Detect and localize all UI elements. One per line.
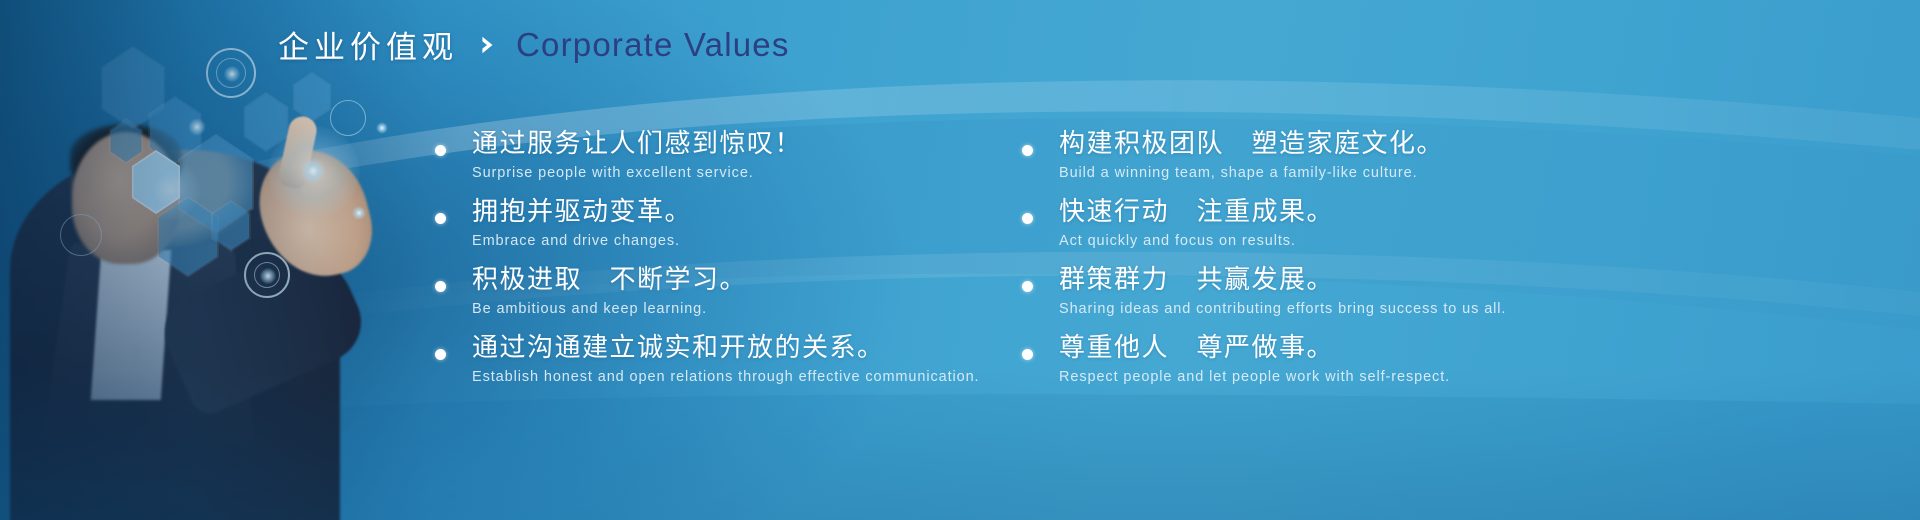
bullet-icon xyxy=(1022,145,1033,156)
value-label-cn: 积极进取 不断学习。 xyxy=(472,264,747,296)
value-label-cn: 拥抱并驱动变革。 xyxy=(472,196,692,228)
corporate-values-banner: 企业价值观 Corporate Values 通过服务让人们感到惊叹！ Surp… xyxy=(0,0,1920,520)
value-label-en: Sharing ideas and contributing efforts b… xyxy=(1059,300,1506,320)
value-text: 群策群力 共赢发展。 Sharing ideas and contributin… xyxy=(1059,264,1506,319)
value-label-en: Embrace and drive changes. xyxy=(472,232,692,252)
bullet-icon xyxy=(435,213,446,224)
chevron-right-icon xyxy=(476,34,498,56)
hexagon-icon xyxy=(290,72,334,122)
bullet-icon xyxy=(1022,213,1033,224)
value-text: 通过沟通建立诚实和开放的关系。 Establish honest and ope… xyxy=(472,332,980,387)
value-label-en: Be ambitious and keep learning. xyxy=(472,300,747,320)
bullet-icon xyxy=(435,349,446,360)
value-label-en: Establish honest and open relations thro… xyxy=(472,368,980,388)
value-label-cn: 尊重他人 尊严做事。 xyxy=(1059,332,1450,364)
values-columns: 通过服务让人们感到惊叹！ Surprise people with excell… xyxy=(0,118,1920,418)
value-label-en: Surprise people with excellent service. xyxy=(472,164,802,184)
value-item: 通过服务让人们感到惊叹！ Surprise people with excell… xyxy=(435,128,802,183)
value-label-cn: 群策群力 共赢发展。 xyxy=(1059,264,1506,296)
bullet-icon xyxy=(435,281,446,292)
glow-dot xyxy=(224,66,240,82)
value-item: 构建积极团队 塑造家庭文化。 Build a winning team, sha… xyxy=(1022,128,1444,183)
bullet-icon xyxy=(1022,281,1033,292)
value-item: 积极进取 不断学习。 Be ambitious and keep learnin… xyxy=(435,264,747,319)
value-label-en: Build a winning team, shape a family-lik… xyxy=(1059,164,1444,184)
value-label-en: Respect people and let people work with … xyxy=(1059,368,1450,388)
page-title-en: Corporate Values xyxy=(516,26,790,64)
value-text: 构建积极团队 塑造家庭文化。 Build a winning team, sha… xyxy=(1059,128,1444,183)
value-item: 尊重他人 尊严做事。 Respect people and let people… xyxy=(1022,332,1450,387)
value-item: 通过沟通建立诚实和开放的关系。 Establish honest and ope… xyxy=(435,332,980,387)
value-label-cn: 快速行动 注重成果。 xyxy=(1059,196,1334,228)
value-item: 快速行动 注重成果。 Act quickly and focus on resu… xyxy=(1022,196,1334,251)
value-label-en: Act quickly and focus on results. xyxy=(1059,232,1334,252)
banner-header: 企业价值观 Corporate Values xyxy=(278,22,790,67)
bullet-icon xyxy=(1022,349,1033,360)
value-item: 群策群力 共赢发展。 Sharing ideas and contributin… xyxy=(1022,264,1506,319)
value-item: 拥抱并驱动变革。 Embrace and drive changes. xyxy=(435,196,692,251)
value-text: 积极进取 不断学习。 Be ambitious and keep learnin… xyxy=(472,264,747,319)
value-text: 拥抱并驱动变革。 Embrace and drive changes. xyxy=(472,196,692,251)
value-label-cn: 构建积极团队 塑造家庭文化。 xyxy=(1059,128,1444,160)
value-text: 通过服务让人们感到惊叹！ Surprise people with excell… xyxy=(472,128,802,183)
value-label-cn: 通过服务让人们感到惊叹！ xyxy=(472,128,802,160)
page-title-cn: 企业价值观 xyxy=(278,22,458,67)
value-label-cn: 通过沟通建立诚实和开放的关系。 xyxy=(472,332,980,364)
value-text: 尊重他人 尊严做事。 Respect people and let people… xyxy=(1059,332,1450,387)
value-text: 快速行动 注重成果。 Act quickly and focus on resu… xyxy=(1059,196,1334,251)
bullet-icon xyxy=(435,145,446,156)
